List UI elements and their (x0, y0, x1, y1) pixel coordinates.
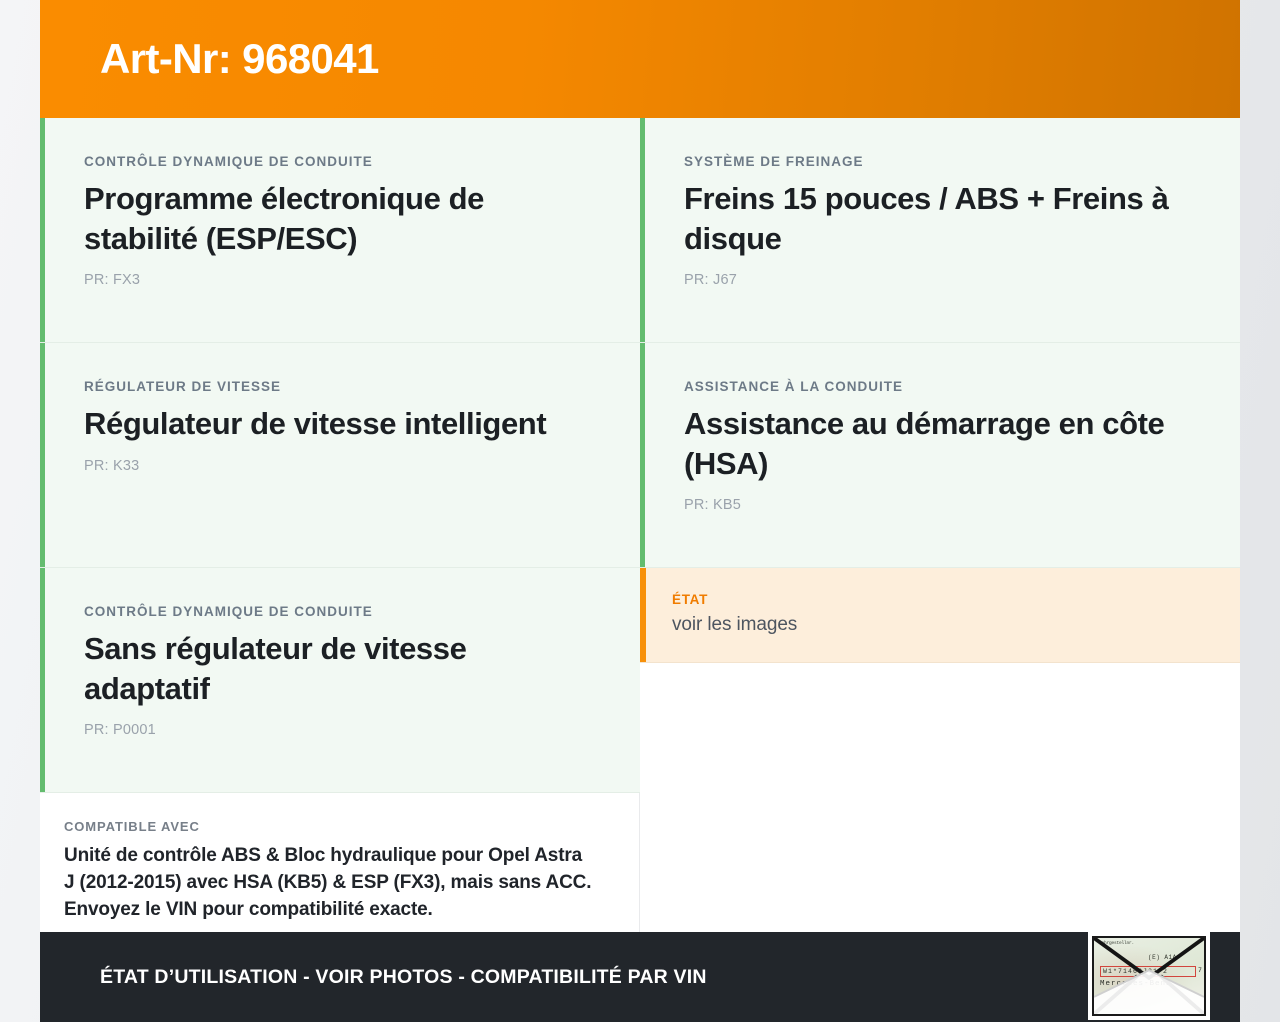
spec-label: CONTRÔLE DYNAMIQUE DE CONDUITE (84, 604, 596, 619)
spec-code: PR: KB5 (684, 497, 1196, 513)
spec-card: CONTRÔLE DYNAMIQUE DE CONDUITE Programme… (40, 118, 640, 343)
spec-value: Assistance au démarrage en côte (HSA) (684, 404, 1196, 483)
envelope-body: Fahrgestellnr. (E) A1A W1*71463J31*2 7 M… (1092, 936, 1206, 1016)
spec-code: PR: J67 (684, 272, 1196, 288)
spec-code: PR: K33 (84, 458, 596, 474)
status-label: ÉTAT (672, 592, 1196, 607)
spec-grid: CONTRÔLE DYNAMIQUE DE CONDUITE Programme… (40, 118, 1240, 793)
envelope-icon[interactable]: Fahrgestellnr. (E) A1A W1*71463J31*2 7 M… (1088, 932, 1210, 1020)
spec-card: CONTRÔLE DYNAMIQUE DE CONDUITE Sans régu… (40, 568, 640, 793)
spec-code: PR: FX3 (84, 272, 596, 288)
spec-card: ASSISTANCE À LA CONDUITE Assistance au d… (640, 343, 1240, 568)
spec-label: CONTRÔLE DYNAMIQUE DE CONDUITE (84, 154, 596, 169)
status-value: voir les images (672, 614, 1196, 636)
status-card: ÉTAT voir les images (640, 568, 1240, 663)
spec-value: Régulateur de vitesse intelligent (84, 404, 596, 444)
header-banner: Art-Nr: 968041 (40, 0, 1240, 118)
page-title: Art-Nr: 968041 (100, 38, 379, 80)
spec-label: ASSISTANCE À LA CONDUITE (684, 379, 1196, 394)
compatibility-label: COMPATIBLE AVEC (64, 819, 595, 834)
compatibility-section: COMPATIBLE AVEC Unité de contrôle ABS & … (40, 793, 640, 948)
footer-banner: ÉTAT D’UTILISATION - VOIR PHOTOS - COMPA… (40, 932, 1240, 1022)
spec-card: SYSTÈME DE FREINAGE Freins 15 pouces / A… (640, 118, 1240, 343)
footer-text: ÉTAT D’UTILISATION - VOIR PHOTOS - COMPA… (100, 966, 707, 989)
spec-value: Freins 15 pouces / ABS + Freins à disque (684, 179, 1196, 258)
compatibility-text: Unité de contrôle ABS & Bloc hydraulique… (64, 843, 595, 924)
spec-label: RÉGULATEUR DE VITESSE (84, 379, 596, 394)
envelope-fold-lines (1094, 938, 1204, 1014)
spec-card: RÉGULATEUR DE VITESSE Régulateur de vite… (40, 343, 640, 568)
spec-value: Programme électronique de stabilité (ESP… (84, 179, 596, 258)
spec-label: SYSTÈME DE FREINAGE (684, 154, 1196, 169)
product-spec-card: Art-Nr: 968041 CONTRÔLE DYNAMIQUE DE CON… (40, 0, 1240, 1022)
spec-value: Sans régulateur de vitesse adaptatif (84, 629, 596, 708)
state-column: ÉTAT voir les images (640, 568, 1240, 793)
spec-code: PR: P0001 (84, 722, 596, 738)
